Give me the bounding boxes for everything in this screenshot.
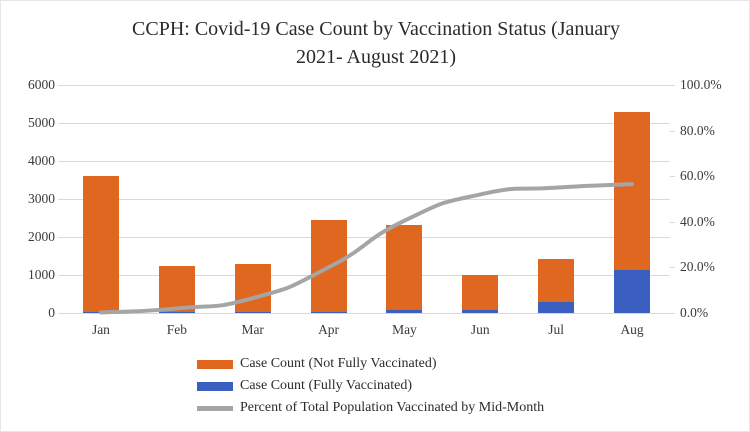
left-tick-mark: [58, 313, 63, 314]
legend-color-swatch: [197, 382, 233, 391]
x-axis-tick-label: Jul: [548, 322, 564, 338]
bar-segment-fully-vaccinated[interactable]: [462, 310, 498, 313]
gridline: [63, 237, 670, 238]
legend-line-swatch: [197, 406, 233, 411]
bar-stack[interactable]: [462, 275, 498, 313]
chart-title-line-1: CCPH: Covid-19 Case Count by Vaccination…: [132, 18, 620, 40]
bar-segment-fully-vaccinated[interactable]: [159, 312, 195, 313]
bar-segment-not-fully-vaccinated[interactable]: [538, 259, 574, 303]
bar-segment-not-fully-vaccinated[interactable]: [462, 275, 498, 310]
x-axis-tick-label: Jan: [92, 322, 110, 338]
left-tick-mark: [58, 123, 63, 124]
bar-stack[interactable]: [386, 225, 422, 313]
bar-segment-fully-vaccinated[interactable]: [386, 310, 422, 313]
x-axis-tick-label: Mar: [241, 322, 264, 338]
right-axis-tick-label: 20.0%: [680, 259, 715, 275]
bar-stack[interactable]: [311, 220, 347, 313]
plot-area: 0100020003000400050006000 0.0%20.0%40.0%…: [63, 85, 670, 313]
right-axis-tick-label: 40.0%: [680, 214, 715, 230]
left-axis-tick-label: 3000: [28, 191, 55, 207]
bar-segment-not-fully-vaccinated[interactable]: [311, 220, 347, 312]
legend-item[interactable]: Case Count (Fully Vaccinated): [197, 375, 667, 397]
legend-item-label: Case Count (Fully Vaccinated): [240, 378, 412, 394]
bar-segment-not-fully-vaccinated[interactable]: [159, 266, 195, 313]
left-axis-tick-label: 4000: [28, 153, 55, 169]
legend-item-label: Case Count (Not Fully Vaccinated): [240, 356, 437, 372]
x-axis-tick-label: Aug: [620, 322, 643, 338]
right-tick-mark: [670, 267, 675, 268]
bar-stack[interactable]: [83, 176, 119, 313]
legend-item[interactable]: Case Count (Not Fully Vaccinated): [197, 353, 667, 375]
right-tick-mark: [670, 131, 675, 132]
left-axis-tick-label: 6000: [28, 77, 55, 93]
right-axis-tick-label: 80.0%: [680, 123, 715, 139]
bar-segment-fully-vaccinated[interactable]: [311, 312, 347, 313]
right-axis-tick-label: 60.0%: [680, 168, 715, 184]
legend-item-label: Percent of Total Population Vaccinated b…: [240, 400, 544, 416]
gridline: [63, 275, 670, 276]
chart-container: CCPH: Covid-19 Case Count by Vaccination…: [0, 0, 750, 432]
bar-segment-fully-vaccinated[interactable]: [235, 312, 271, 313]
x-axis-tick-label: Jun: [471, 322, 490, 338]
bar-segment-not-fully-vaccinated[interactable]: [614, 112, 650, 271]
bar-stack[interactable]: [159, 266, 195, 313]
right-tick-mark: [670, 222, 675, 223]
gridline: [63, 85, 670, 86]
bar-segment-fully-vaccinated[interactable]: [83, 312, 119, 313]
chart-legend: Case Count (Not Fully Vaccinated)Case Co…: [197, 353, 667, 419]
legend-color-swatch: [197, 360, 233, 369]
right-tick-mark: [670, 176, 675, 177]
bar-segment-not-fully-vaccinated[interactable]: [386, 225, 422, 310]
chart-title-line-2: 2021- August 2021): [296, 46, 456, 68]
left-tick-mark: [58, 237, 63, 238]
chart-title: CCPH: Covid-19 Case Count by Vaccination…: [91, 15, 661, 71]
right-tick-mark: [670, 313, 675, 314]
x-axis-tick-label: Apr: [318, 322, 339, 338]
left-axis-tick-label: 1000: [28, 267, 55, 283]
x-axis-baseline: [63, 313, 670, 314]
gridline: [63, 123, 670, 124]
bar-stack[interactable]: [235, 264, 271, 313]
gridline: [63, 199, 670, 200]
left-axis-tick-label: 2000: [28, 229, 55, 245]
bar-segment-fully-vaccinated[interactable]: [614, 270, 650, 313]
left-tick-mark: [58, 275, 63, 276]
legend-item[interactable]: Percent of Total Population Vaccinated b…: [197, 397, 667, 419]
left-axis-tick-label: 5000: [28, 115, 55, 131]
bar-stack[interactable]: [614, 112, 650, 313]
bar-segment-fully-vaccinated[interactable]: [538, 302, 574, 313]
bar-segment-not-fully-vaccinated[interactable]: [83, 176, 119, 313]
bar-segment-not-fully-vaccinated[interactable]: [235, 264, 271, 313]
right-axis-tick-label: 100.0%: [680, 77, 722, 93]
right-tick-mark: [670, 85, 675, 86]
bar-stack[interactable]: [538, 259, 574, 313]
left-tick-mark: [58, 199, 63, 200]
right-axis-tick-label: 0.0%: [680, 305, 708, 321]
left-tick-mark: [58, 85, 63, 86]
gridline: [63, 161, 670, 162]
left-axis-tick-label: 0: [48, 305, 55, 321]
left-tick-mark: [58, 161, 63, 162]
x-axis-tick-label: Feb: [167, 322, 187, 338]
x-axis-tick-label: May: [392, 322, 417, 338]
